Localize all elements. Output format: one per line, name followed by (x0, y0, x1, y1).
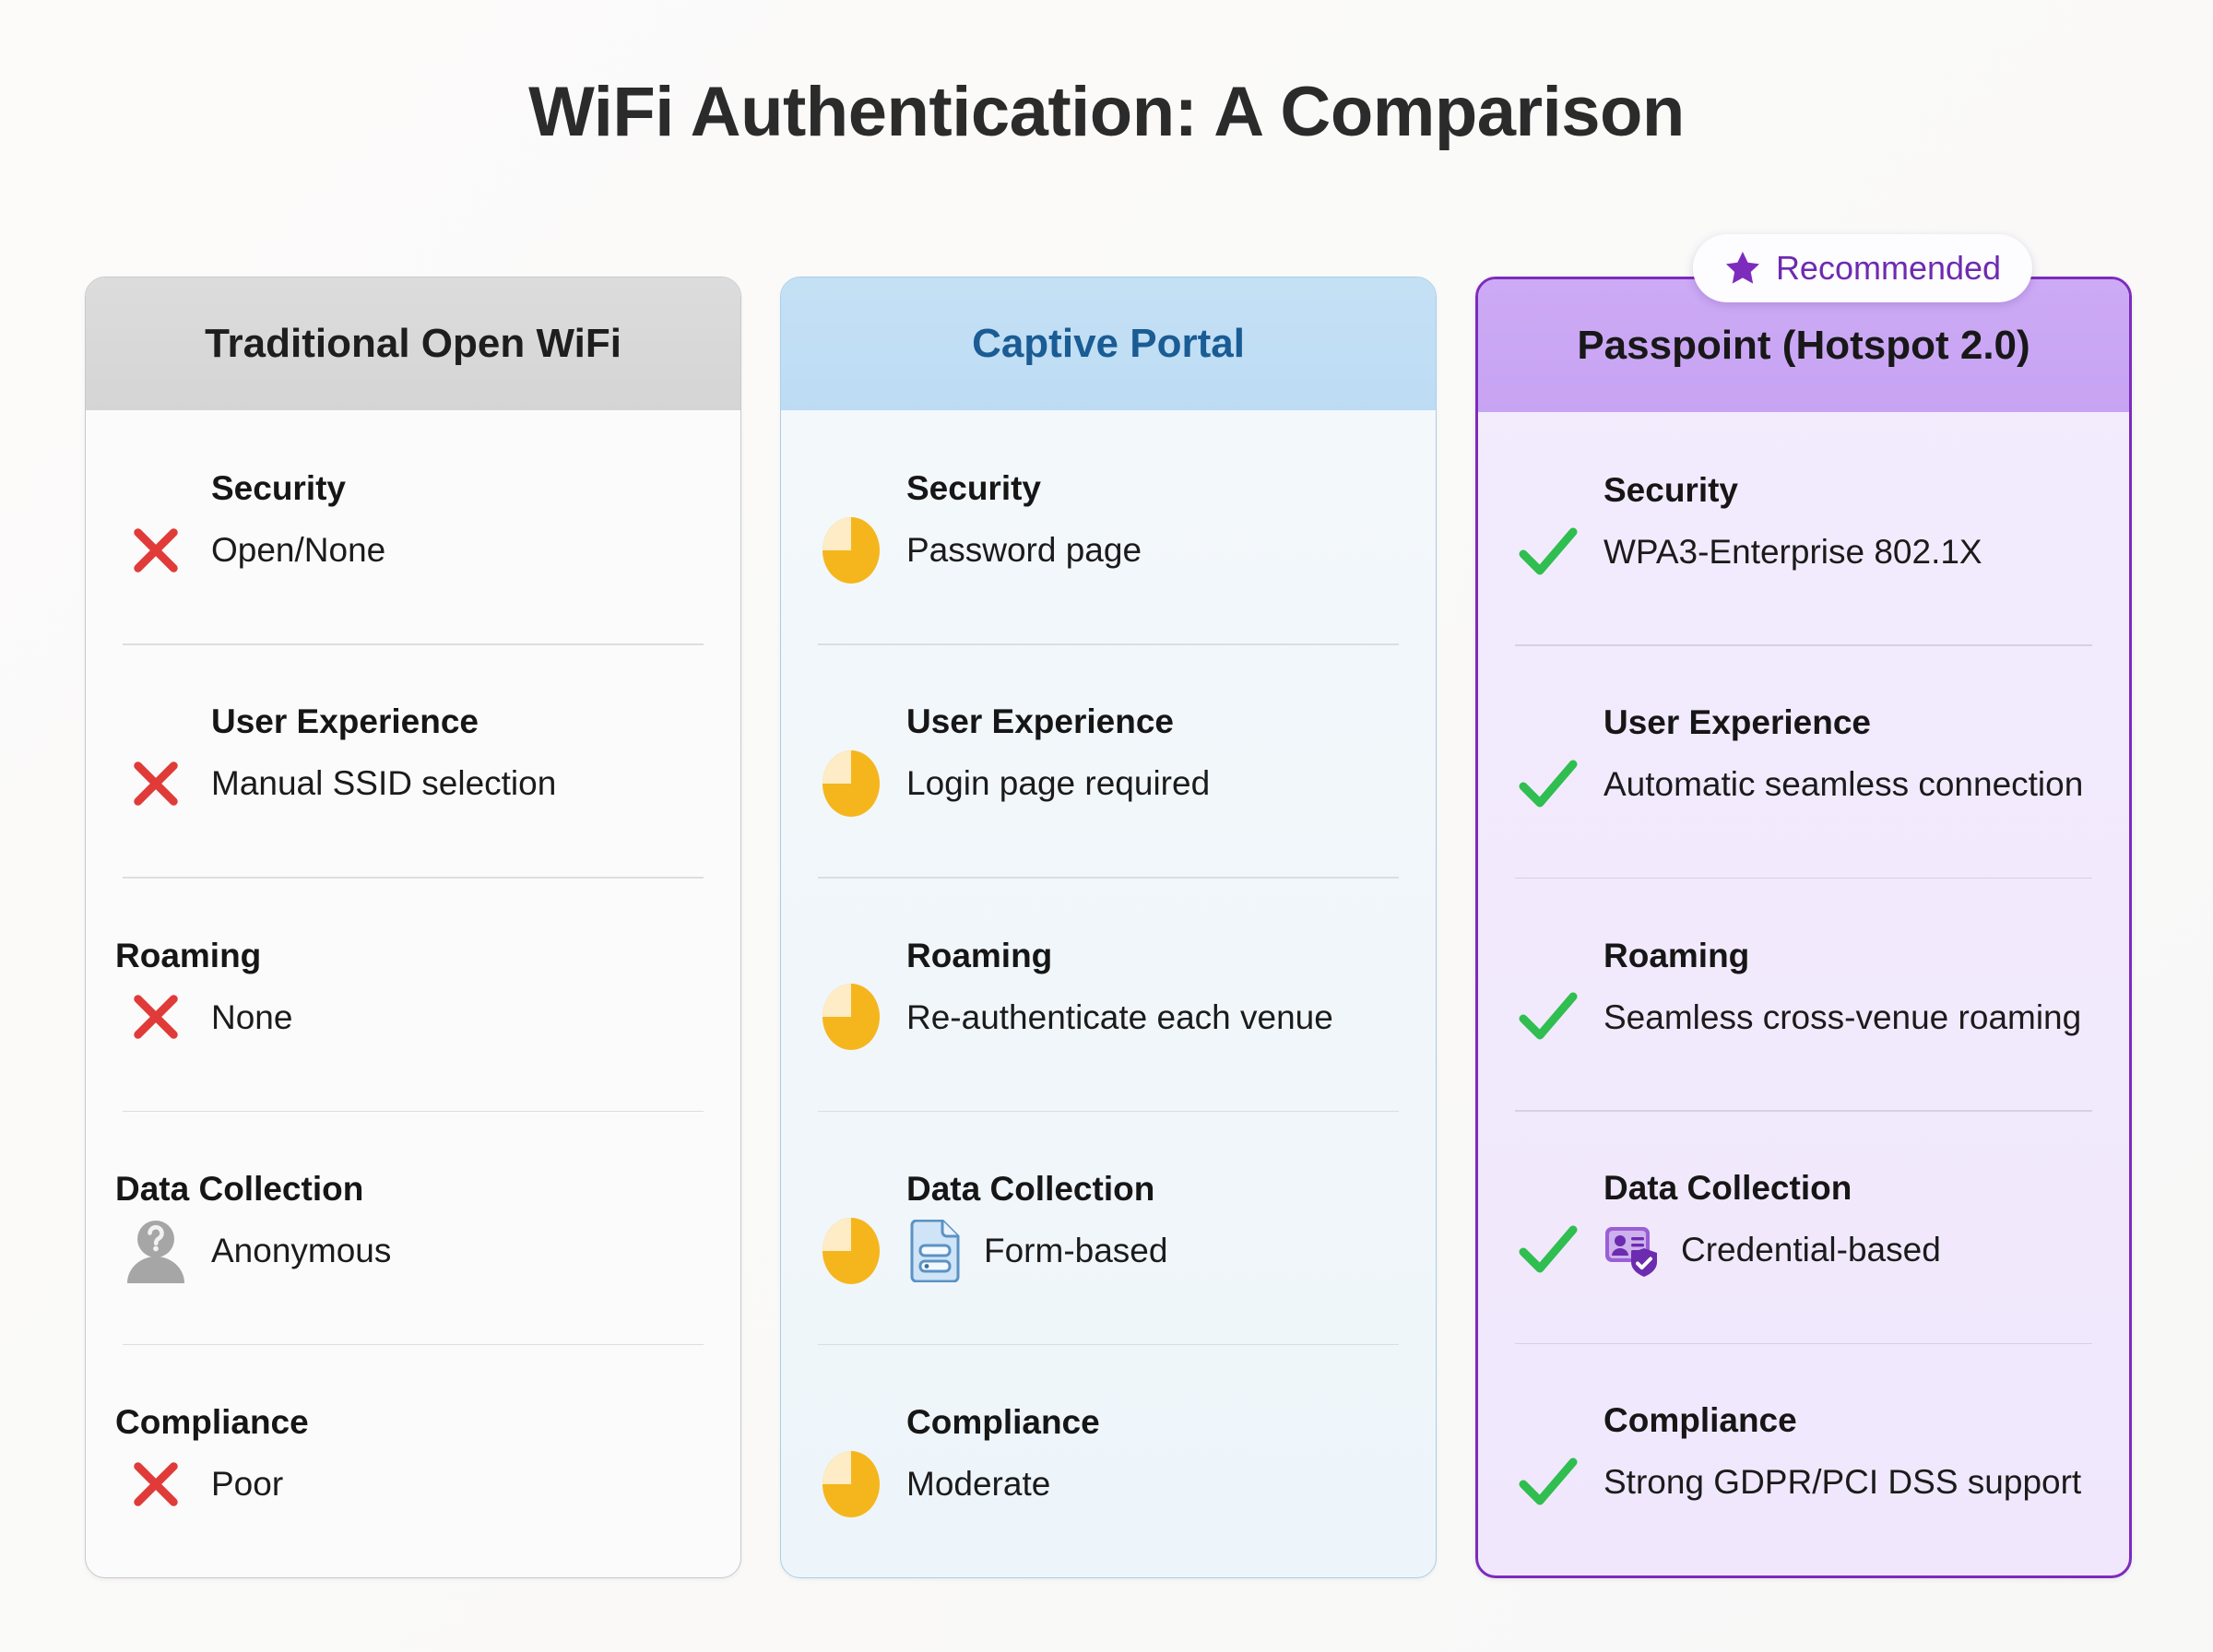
row-label: User Experience (1604, 704, 2100, 742)
row-label: Data Collection (1604, 1170, 2100, 1208)
row-value: Re-authenticate each venue (811, 984, 1406, 1050)
row-value: Anonymous (115, 1218, 711, 1284)
table-row: Security Password page (811, 410, 1406, 643)
row-label: Security (906, 470, 1406, 508)
row-value: None (115, 984, 711, 1050)
row-value: Form-based (811, 1218, 1406, 1284)
card-title-captive-portal: Captive Portal (781, 277, 1436, 410)
row-label: Roaming (906, 938, 1406, 975)
star-icon (1724, 250, 1761, 287)
row-value-text: Poor (211, 1464, 283, 1504)
check-mark-icon (1508, 984, 1589, 1050)
table-row: Compliance Moderate (811, 1344, 1406, 1577)
table-row: Security Open/None (115, 410, 711, 643)
row-value-text: Strong GDPR/PCI DSS support (1604, 1462, 2081, 1503)
table-row: User Experience Automatic seamless conne… (1508, 644, 2100, 877)
page-title: WiFi Authentication: A Comparison (0, 72, 2213, 152)
check-mark-icon (1508, 1217, 1589, 1283)
row-value-text: Automatic seamless connection (1604, 764, 2083, 805)
row-label: Data Collection (906, 1171, 1406, 1209)
row-value-text: Password page (906, 530, 1142, 571)
row-value-text: Moderate (906, 1464, 1050, 1504)
row-value: Poor (115, 1451, 711, 1517)
card-title-traditional-open-wifi: Traditional Open WiFi (86, 277, 740, 410)
row-label: Security (1604, 472, 2100, 510)
row-value: Moderate (811, 1451, 1406, 1517)
table-row: Compliance Strong GDPR/PCI DSS support (1508, 1343, 2100, 1575)
row-value-text: WPA3-Enterprise 802.1X (1604, 532, 1982, 572)
row-value: Strong GDPR/PCI DSS support (1508, 1449, 2100, 1516)
row-value-text: Credential-based (1681, 1230, 1941, 1270)
status-badge-label: Recommended (1776, 249, 2001, 288)
x-mark-icon (115, 517, 196, 584)
x-mark-icon (115, 1451, 196, 1517)
row-value-text: Open/None (211, 530, 385, 571)
row-value-text: Manual SSID selection (211, 763, 556, 804)
partial-pie-icon (811, 1218, 892, 1284)
row-value: Automatic seamless connection (1508, 751, 2100, 818)
row-label: User Experience (906, 703, 1406, 741)
check-mark-icon (1508, 519, 1589, 585)
row-label: Compliance (906, 1404, 1406, 1442)
credential-id-card-icon (1604, 1219, 1661, 1281)
table-row: Data Collection Anonymous (115, 1111, 711, 1344)
row-label: Security (211, 470, 711, 508)
row-label: Compliance (115, 1404, 711, 1442)
row-value-text: Seamless cross-venue roaming (1604, 997, 2081, 1038)
partial-pie-icon (811, 1451, 892, 1517)
row-value-text: Re-authenticate each venue (906, 997, 1333, 1038)
row-value: Credential-based (1508, 1217, 2100, 1283)
card-body-captive-portal: Security Password page (781, 410, 1436, 1577)
row-label: Compliance (1604, 1402, 2100, 1440)
table-row: Security WPA3-Enterprise 802.1X (1508, 412, 2100, 644)
comparison-cards: Traditional Open WiFi Security Open/None… (85, 277, 2132, 1578)
row-value: Open/None (115, 517, 711, 584)
table-row: Roaming Seamless cross-venue roaming (1508, 878, 2100, 1110)
card-captive-portal: Captive Portal Security Password page (780, 277, 1437, 1578)
table-row: Compliance Poor (115, 1344, 711, 1577)
row-value-text: Form-based (984, 1231, 1167, 1271)
form-document-icon (906, 1220, 964, 1282)
table-row: Data Collection (1508, 1110, 2100, 1342)
table-row: User Experience Login page required (811, 643, 1406, 877)
card-traditional-open-wifi: Traditional Open WiFi Security Open/None… (85, 277, 741, 1578)
table-row: Roaming Re-authenticate each venue (811, 877, 1406, 1110)
anonymous-person-icon (115, 1218, 196, 1284)
check-mark-icon (1508, 1449, 1589, 1516)
status-badge: Recommended (1693, 234, 2032, 302)
x-mark-icon (115, 984, 196, 1050)
row-label: Roaming (1604, 938, 2100, 975)
check-mark-icon (1508, 751, 1589, 818)
row-value: Manual SSID selection (115, 750, 711, 817)
table-row: Data Collection (811, 1111, 1406, 1344)
card-body-passpoint-hotspot-20: Security WPA3-Enterprise 802.1X User Exp… (1478, 412, 2129, 1575)
card-passpoint-hotspot-20: Recommended Passpoint (Hotspot 2.0) Secu… (1475, 277, 2132, 1578)
row-label: Data Collection (115, 1171, 711, 1209)
row-value-text: Login page required (906, 763, 1210, 804)
table-row: User Experience Manual SSID selection (115, 643, 711, 877)
partial-pie-icon (811, 984, 892, 1050)
row-value: Password page (811, 517, 1406, 584)
row-value: Login page required (811, 750, 1406, 817)
row-label: User Experience (211, 703, 711, 741)
row-value: Seamless cross-venue roaming (1508, 984, 2100, 1050)
partial-pie-icon (811, 517, 892, 584)
row-value: WPA3-Enterprise 802.1X (1508, 519, 2100, 585)
x-mark-icon (115, 750, 196, 817)
row-label: Roaming (115, 938, 711, 975)
comparison-infographic: WiFi Authentication: A Comparison Tradit… (0, 0, 2213, 1652)
partial-pie-icon (811, 750, 892, 817)
table-row: Roaming None (115, 877, 711, 1110)
row-value-text: None (211, 997, 292, 1038)
card-body-traditional-open-wifi: Security Open/None User Experience (86, 410, 740, 1577)
row-value-text: Anonymous (211, 1231, 391, 1271)
